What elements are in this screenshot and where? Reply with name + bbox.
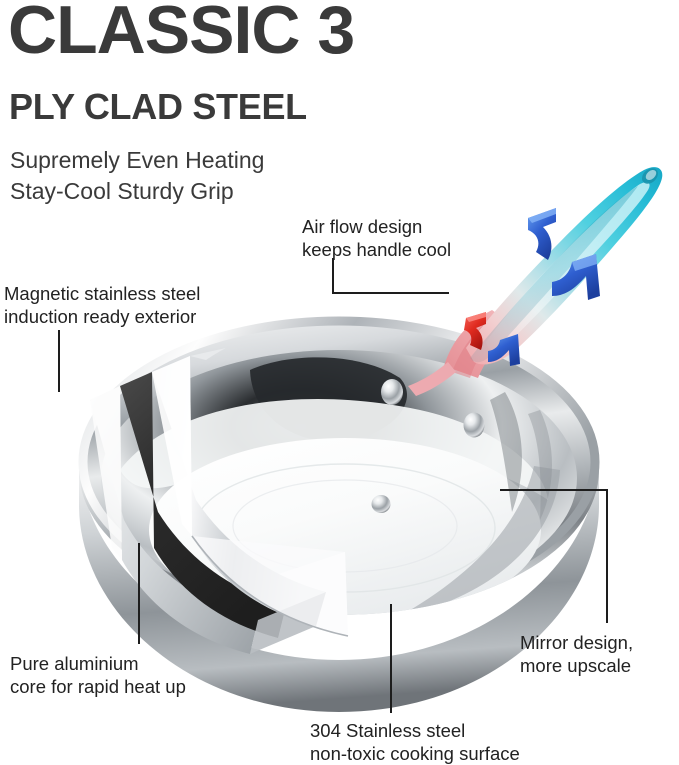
tagline-line-2: Stay-Cool Sturdy Grip	[10, 176, 264, 207]
floor-ring-2	[233, 480, 457, 572]
rivet-1	[381, 379, 403, 405]
handle-shading	[470, 186, 638, 362]
callout-aluminium-line-2: core for rapid heat up	[10, 675, 186, 698]
polish-streak-2	[528, 410, 552, 520]
rivet-3	[372, 495, 391, 513]
callout-magnetic-line-1: Magnetic stainless steel	[4, 282, 200, 305]
layer-magnetic-exterior	[90, 386, 258, 654]
handle-bracket-leg	[408, 362, 456, 396]
page-title: CLASSIC 3	[8, 0, 354, 65]
leader-line-aluminium	[138, 543, 140, 644]
handle-hang-hole	[639, 165, 661, 187]
leader-line-304-steel	[390, 604, 392, 713]
handle-hang-hole-inner	[644, 168, 658, 182]
callout-air-flow-line-2: keeps handle cool	[302, 238, 451, 261]
callout-304-line-1: 304 Stainless steel	[310, 719, 520, 742]
callout-mirror-design: Mirror design, more upscale	[520, 631, 633, 678]
leader-line-magnetic	[58, 330, 60, 392]
leader-line-air-flow-horizontal	[332, 292, 449, 294]
page-subtitle: PLY CLAD STEEL	[9, 88, 307, 126]
airflow-arrow-lower	[488, 334, 520, 366]
callout-aluminium-core: Pure aluminium core for rapid heat up	[10, 652, 186, 699]
handle-body	[466, 167, 662, 364]
rivet-group	[372, 379, 485, 513]
cut-edge-highlight-2	[152, 356, 192, 536]
handle-bracket-upper	[444, 310, 520, 378]
tagline: Supremely Even Heating Stay-Cool Sturdy …	[10, 145, 264, 207]
cut-wedge-face-lower	[250, 592, 326, 654]
callout-304-line-2: non-toxic cooking surface	[310, 742, 520, 765]
cut-top-chip	[190, 348, 226, 360]
callout-air-flow: Air flow design keeps handle cool	[302, 215, 451, 262]
callout-cooking-surface: 304 Stainless steel non-toxic cooking su…	[310, 719, 520, 765]
airflow-arrow-mid	[552, 254, 600, 300]
layer-aluminium-core	[120, 372, 286, 638]
handle-bracket-shadow	[452, 312, 512, 378]
layer-304-interior	[152, 356, 326, 626]
cutaway-void	[200, 552, 348, 643]
callout-air-flow-line-1: Air flow design	[302, 215, 451, 238]
leader-line-mirror-horizontal	[500, 489, 608, 491]
tagline-line-1: Supremely Even Heating	[10, 145, 264, 176]
leader-line-air-flow-vertical	[332, 258, 334, 294]
pan-interior-surface	[101, 350, 577, 606]
polish-streak-1	[490, 392, 522, 512]
interior-highlight-sweep	[120, 399, 548, 500]
airflow-arrow-upper-hi	[528, 208, 556, 223]
callout-magnetic-line-2: induction ready exterior	[4, 305, 200, 328]
product-infographic: CLASSIC 3 PLY CLAD STEEL Supremely Even …	[0, 0, 679, 765]
cut-edge-highlight-1	[90, 386, 122, 560]
pan-rim	[83, 321, 595, 603]
heat-arrow-red	[464, 312, 486, 350]
callout-magnetic-exterior: Magnetic stainless steel induction ready…	[4, 282, 200, 329]
leader-line-mirror-vertical	[606, 489, 608, 623]
pan-interior-group	[101, 350, 577, 622]
pan-outer-wall	[79, 325, 599, 615]
rivet-2	[464, 413, 485, 438]
cut-inner-face	[192, 536, 348, 636]
handle-highlight	[486, 182, 650, 351]
heat-arrow-red-hi	[466, 312, 486, 322]
callout-mirror-line-1: Mirror design,	[520, 631, 633, 654]
airflow-arrow-upper	[528, 208, 556, 260]
cut-inner-edge	[192, 536, 348, 636]
pan-cooking-floor	[149, 438, 541, 622]
floor-ring-1	[195, 464, 495, 592]
callout-aluminium-line-1: Pure aluminium	[10, 652, 186, 675]
callout-mirror-line-2: more upscale	[520, 654, 633, 677]
airflow-arrow-mid-hi	[572, 254, 597, 271]
handle-assembly	[408, 165, 662, 396]
interior-reflection-dark	[250, 357, 407, 441]
